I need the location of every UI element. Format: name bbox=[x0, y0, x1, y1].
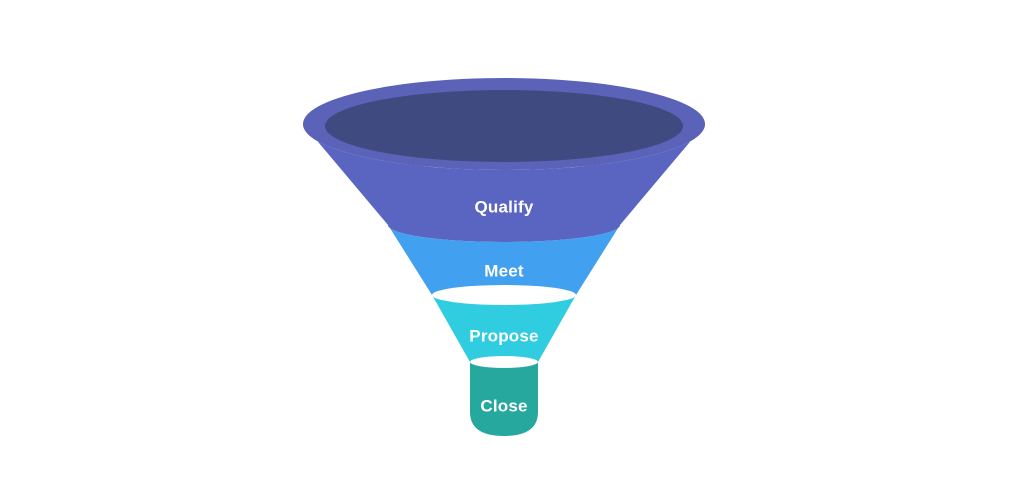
funnel-segment-propose[interactable]: Propose bbox=[432, 295, 576, 362]
funnel-label-qualify: Qualify bbox=[474, 197, 533, 216]
funnel-opening-inner bbox=[325, 90, 683, 162]
funnel-chart: Qualify Meet Propose Close bbox=[0, 0, 1009, 485]
funnel-segment-close[interactable]: Close bbox=[470, 362, 538, 436]
funnel-label-propose: Propose bbox=[469, 326, 538, 345]
funnel-segment-qualify[interactable]: Qualify bbox=[303, 78, 705, 242]
funnel-diagram-canvas: Qualify Meet Propose Close bbox=[0, 0, 1009, 485]
funnel-label-meet: Meet bbox=[484, 261, 524, 280]
funnel-label-close: Close bbox=[480, 396, 527, 415]
